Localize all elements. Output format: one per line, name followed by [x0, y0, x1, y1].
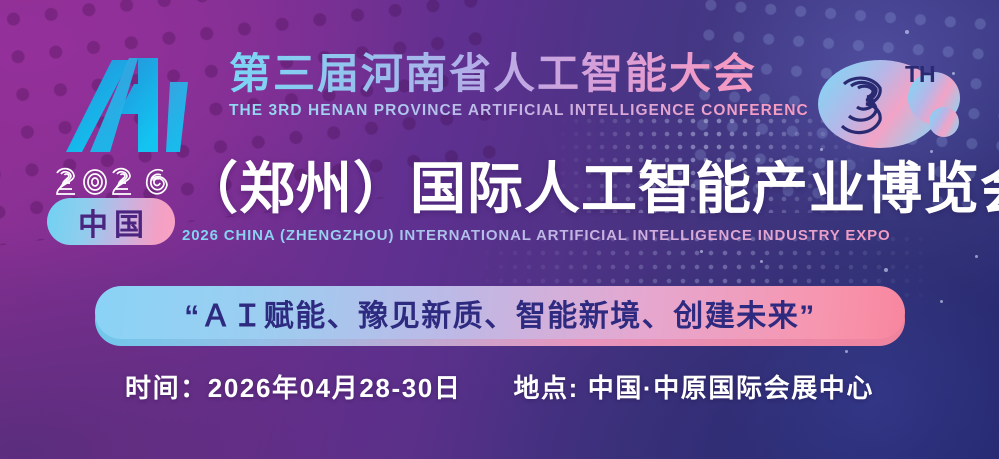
slogan-pill: “ＡＩ赋能、豫见新质、智能新境、创建未来”: [95, 286, 905, 339]
expo-title-block: （郑州）国际人工智能产业博览会 2026 CHINA (ZHENGZHOU) I…: [182, 158, 982, 244]
country-label: 中国: [72, 200, 150, 244]
year-2026-mark: 2026: [53, 162, 173, 198]
expo-title-cn: （郑州）国际人工智能产业博览会: [182, 158, 982, 220]
event-venue: 地点: 中国·中原国际会展中心: [513, 368, 874, 405]
conference-title-block: 第三届河南省人工智能大会 THE 3RD HENAN PROVINCE ARTI…: [229, 52, 809, 120]
event-date: 时间：2026年04月28-30日: [125, 368, 461, 405]
edition-suffix-text: TH: [905, 61, 936, 87]
year-country-badge: 2026 中国: [47, 162, 177, 248]
slogan-text: “ＡＩ赋能、豫见新质、智能新境、创建未来”: [184, 291, 816, 335]
edition-badge: TH 3 TH: [812, 42, 972, 162]
conference-header-row: 第三届河南省人工智能大会 THE 3RD HENAN PROVINCE ARTI…: [0, 46, 999, 156]
conference-title-en: THE 3RD HENAN PROVINCE ARTIFICIAL INTELL…: [229, 102, 809, 120]
country-pill: 中国: [47, 198, 175, 245]
conference-title-cn: 第三届河南省人工智能大会: [229, 52, 809, 97]
expo-title-en: 2026 CHINA (ZHENGZHOU) INTERNATIONAL ART…: [182, 227, 982, 244]
event-details-row: 时间：2026年04月28-30日 地点: 中国·中原国际会展中心: [0, 368, 999, 405]
expo-header-row: 2026 中国 （郑州）国际人工智能产业博览会 2026 CHINA (ZHEN…: [0, 160, 999, 270]
conference-banner: 第三届河南省人工智能大会 THE 3RD HENAN PROVINCE ARTI…: [0, 0, 999, 459]
ai-logo-icon: [66, 52, 206, 157]
slogan-banner: “ＡＩ赋能、豫见新质、智能新境、创建未来”: [95, 286, 905, 344]
